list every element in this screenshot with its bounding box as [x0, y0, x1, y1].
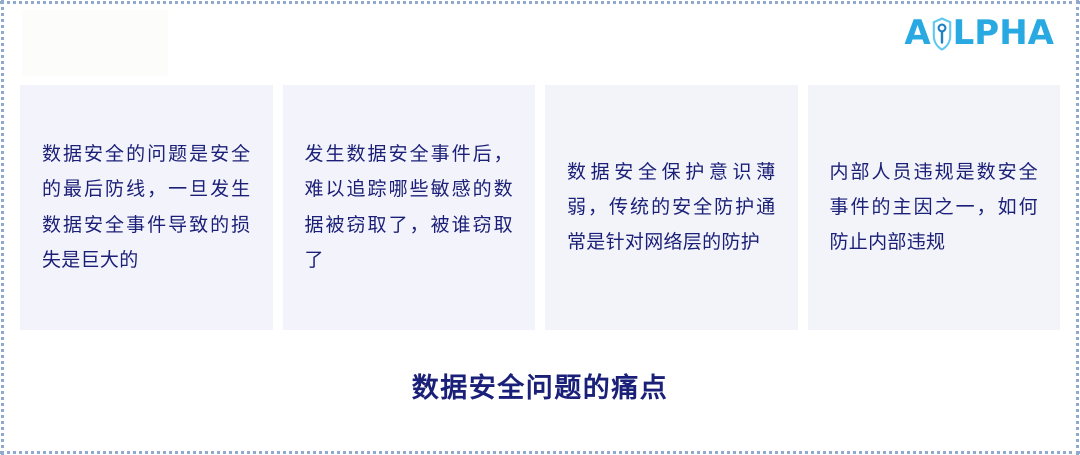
slide-title: 数据安全问题的痛点 — [0, 366, 1080, 405]
pain-point-card: 数据安全的问题是安全的最后防线，一旦发生数据安全事件导致的损失是巨大的 — [20, 85, 273, 330]
pain-point-card-text: 内部人员违规是数安全事件的主因之一，如何防止内部违规 — [830, 155, 1039, 260]
pain-point-card-text: 数据安全保护意识薄弱，传统的安全防护通常是针对网络层的防护 — [567, 155, 776, 260]
pain-point-card: 发生数据安全事件后，难以追踪哪些敏感的数据被窃取了，被谁窃取了 — [283, 85, 536, 330]
slide-border-bottom — [0, 451, 1080, 454]
slide-root: A LPHA 数据安全的问题是安全的最后防线，一旦发生数据安全事件导致的损失是巨… — [0, 0, 1080, 455]
pain-point-card-text: 发生数据安全事件后，难以追踪哪些敏感的数据被窃取了，被谁窃取了 — [305, 137, 514, 278]
pain-point-card-list: 数据安全的问题是安全的最后防线，一旦发生数据安全事件导致的损失是巨大的 发生数据… — [20, 85, 1060, 330]
brand-logo: A LPHA — [904, 14, 1054, 52]
slide-border-top — [0, 1, 1080, 4]
pain-point-card-text: 数据安全的问题是安全的最后防线，一旦发生数据安全事件导致的损失是巨大的 — [42, 137, 251, 278]
shield-icon — [932, 17, 952, 51]
logo-text-before: A — [904, 16, 930, 50]
pain-point-card: 数据安全保护意识薄弱，传统的安全防护通常是针对网络层的防护 — [545, 85, 798, 330]
decorative-panel — [22, 10, 168, 76]
logo-text-after: LPHA — [953, 16, 1054, 50]
pain-point-card: 内部人员违规是数安全事件的主因之一，如何防止内部违规 — [808, 85, 1061, 330]
